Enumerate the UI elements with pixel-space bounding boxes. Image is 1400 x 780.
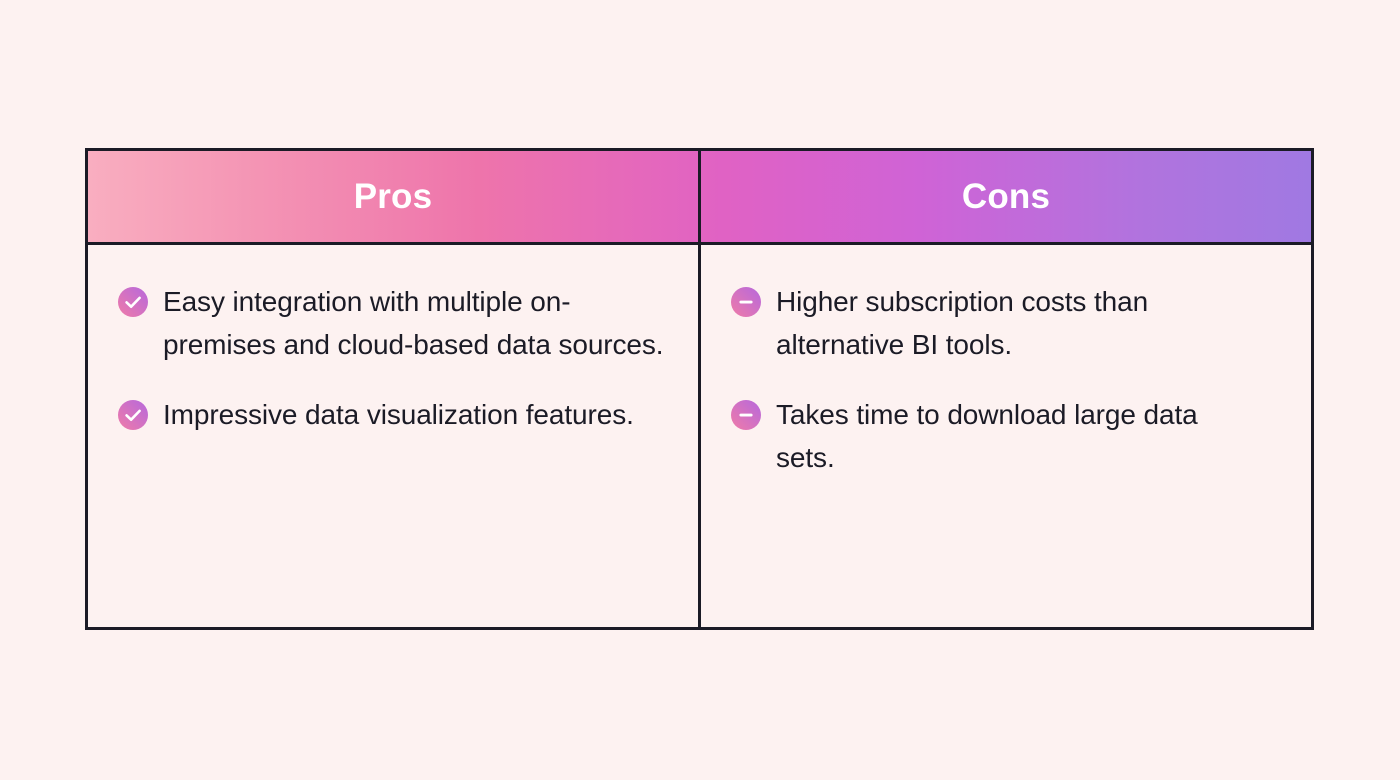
list-item-text: Higher subscription costs than alternati… [776,281,1246,366]
minus-circle-icon [731,287,761,317]
check-circle-icon [118,287,148,317]
table-header-row: Pros Cons [88,151,1311,245]
cons-list: Higher subscription costs than alternati… [731,281,1281,479]
column-title-cons: Cons [962,179,1050,214]
column-title-pros: Pros [354,179,433,214]
pros-cons-page: Pros Cons Easy integration with multiple… [0,0,1400,780]
list-item: Impressive data visualization features. [118,394,668,437]
list-item: Higher subscription costs than alternati… [731,281,1281,366]
list-item: Easy integration with multiple on-premis… [118,281,668,366]
list-item-text: Easy integration with multiple on-premis… [163,281,668,366]
pros-list: Easy integration with multiple on-premis… [118,281,668,437]
body-cell-pros: Easy integration with multiple on-premis… [88,245,698,627]
check-circle-icon [118,400,148,430]
list-item-text: Impressive data visualization features. [163,394,634,437]
minus-circle-icon [731,400,761,430]
header-cell-cons: Cons [698,151,1311,242]
header-cell-pros: Pros [88,151,698,242]
table-body-row: Easy integration with multiple on-premis… [88,245,1311,627]
body-cell-cons: Higher subscription costs than alternati… [698,245,1311,627]
list-item-text: Takes time to download large data sets. [776,394,1246,479]
pros-cons-table: Pros Cons Easy integration with multiple… [85,148,1314,630]
list-item: Takes time to download large data sets. [731,394,1281,479]
